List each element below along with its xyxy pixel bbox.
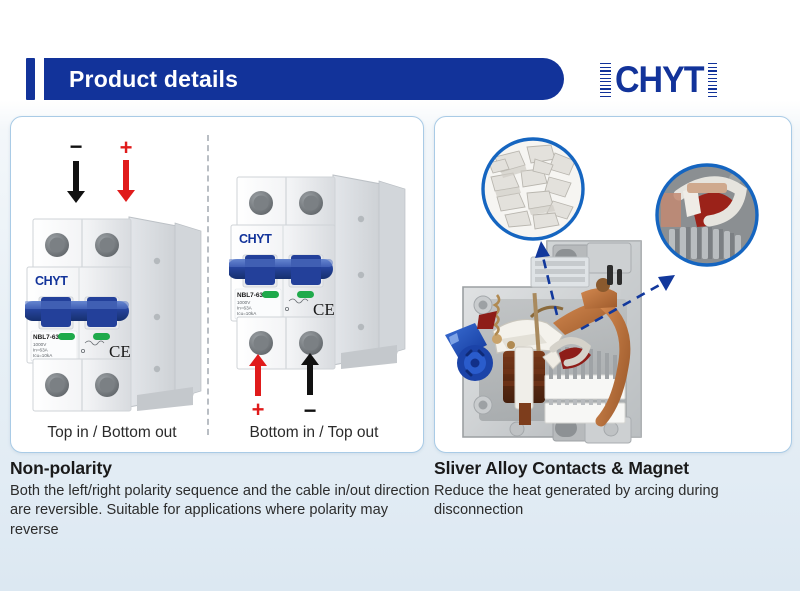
card-divider <box>207 135 209 435</box>
magnet-circle <box>657 165 757 265</box>
breaker-unit-top-in: − + <box>17 117 207 452</box>
arrow-up-icon <box>301 353 319 365</box>
header-bar: Product details CHYT <box>0 22 800 94</box>
circuit-breaker-image: CHYT NBL7-63 1000V In=63A <box>25 209 203 421</box>
svg-text:CHYT: CHYT <box>239 232 272 246</box>
svg-text:NBL7-63: NBL7-63 <box>237 292 263 299</box>
breaker-unit-bottom-in: CHYT NBL7-63 1000V In=63A Icu=10kA IEC/E… <box>211 117 417 452</box>
header-banner: Product details <box>44 58 564 100</box>
unit-caption: Bottom in / Top out <box>211 424 417 442</box>
contacts-magnet-card: Sliver Alloy Contacts Magnet <box>434 116 792 453</box>
page-title: Product details <box>69 68 238 91</box>
svg-text:1000V: 1000V <box>33 342 47 347</box>
contacts-magnet-body: Reduce the heat generated by arcing duri… <box>434 482 794 521</box>
header-accent-tick <box>26 58 35 100</box>
silver-alloy-contacts-circle <box>483 139 583 239</box>
arrow-up-icon <box>249 354 267 366</box>
brand-logo: CHYT <box>600 60 717 100</box>
striped-bars-icon <box>600 63 611 97</box>
svg-text:CE: CE <box>313 300 335 319</box>
polarity-mark-positive: + <box>117 140 135 202</box>
striped-bars-icon <box>708 63 717 97</box>
polarity-mark-negative: − <box>67 139 85 203</box>
non-polarity-card: − + <box>10 116 424 453</box>
svg-text:In=63A: In=63A <box>237 305 253 310</box>
slide-background: Product details CHYT − <box>0 0 800 591</box>
plus-sign: + <box>252 402 265 417</box>
minus-sign: − <box>304 403 317 418</box>
non-polarity-heading: Non-polarity <box>10 458 430 479</box>
breaker-cutaway-diagram <box>435 117 791 452</box>
svg-text:CE: CE <box>109 342 131 361</box>
arrow-down-icon <box>67 191 85 203</box>
polarity-mark-negative: − <box>301 353 319 418</box>
polarity-mark-positive: + <box>249 354 267 417</box>
polarity-arrows-bottom: + − <box>249 353 319 418</box>
arrow-shaft <box>123 160 129 190</box>
contacts-magnet-description: Sliver Alloy Contacts & Magnet Reduce th… <box>434 458 794 521</box>
svg-text:In=63A: In=63A <box>33 347 49 352</box>
circuit-breaker-image: CHYT NBL7-63 1000V In=63A Icu=10kA IEC/E… <box>229 167 407 379</box>
contacts-magnet-heading: Sliver Alloy Contacts & Magnet <box>434 458 794 479</box>
arrow-down-icon <box>117 190 135 202</box>
logo-text: CHYT <box>615 62 704 99</box>
non-polarity-description: Non-polarity Both the left/right polarit… <box>10 458 430 540</box>
breaker-comparison: − + <box>11 117 423 452</box>
arrow-shaft <box>73 161 79 191</box>
minus-sign: − <box>70 139 83 154</box>
svg-text:1000V: 1000V <box>237 300 251 305</box>
plus-sign: + <box>120 140 133 155</box>
arrow-shaft <box>307 365 313 395</box>
polarity-arrows-top: − + <box>67 139 135 203</box>
arrow-shaft <box>255 366 261 396</box>
unit-caption: Top in / Bottom out <box>17 424 207 442</box>
svg-text:CHYT: CHYT <box>35 274 68 288</box>
non-polarity-body: Both the left/right polarity sequence an… <box>10 482 430 540</box>
svg-text:NBL7-63: NBL7-63 <box>33 334 59 341</box>
